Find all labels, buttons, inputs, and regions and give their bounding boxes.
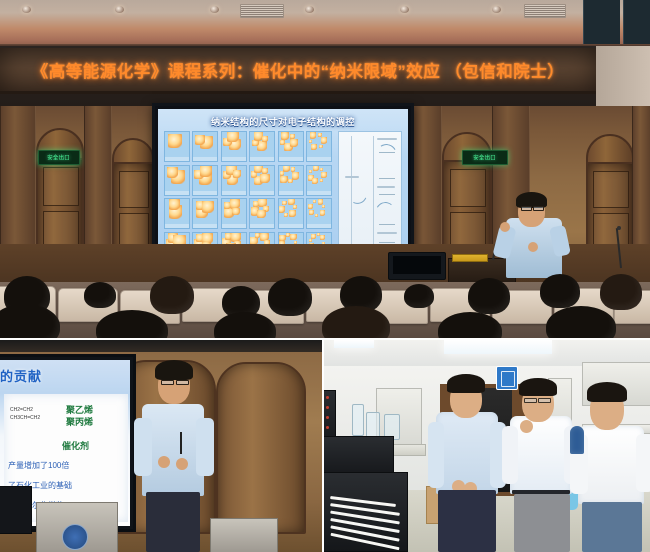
person-middle-arm: [502, 426, 518, 484]
audience-head: [468, 278, 510, 314]
lecturer-arm-right: [196, 418, 214, 476]
collage-divider-horizontal: [0, 338, 650, 340]
lecturer-hand-left: [158, 456, 170, 468]
ceiling-light: [334, 340, 374, 348]
exit-sign-right-label: 安全出口: [474, 153, 497, 161]
nanoparticle-cell: [306, 198, 332, 229]
audience-head: [404, 284, 434, 308]
audience-head: [540, 274, 580, 308]
exit-sign-left: 安全出口: [38, 150, 80, 165]
nanoparticle-cell: [249, 131, 275, 162]
slide-text-line: 聚丙烯: [66, 418, 93, 427]
nanoparticle-cell: [164, 165, 190, 196]
photo-collage: 《高等能源化学》课程系列：催化中的“纳米限域”效应 （包信和院士） 安全出口 安…: [0, 0, 650, 552]
person-middle-glasses: [538, 398, 551, 403]
ceiling-speaker-box: [583, 0, 620, 46]
safety-sign-icon: [496, 366, 518, 390]
air-vent: [524, 4, 566, 18]
side-table: [210, 518, 278, 552]
audience-head: [150, 276, 194, 314]
collage-divider-vertical: [322, 338, 324, 552]
audience-head: [84, 282, 116, 308]
lecturer-glasses: [176, 380, 189, 385]
slide-text-line: 产量增加了100倍: [8, 462, 69, 470]
side-display: [0, 486, 32, 534]
nanoparticle-cell: [278, 131, 304, 162]
nanoparticle-cell: [164, 131, 190, 162]
audience-head: [268, 278, 312, 316]
ceiling-downlight: [492, 6, 501, 13]
audience-head: [600, 274, 642, 310]
nanoparticle-cell: [192, 198, 218, 229]
slide-title: 纳米结构的尺寸对电子结构的调控: [158, 115, 408, 128]
ceiling-downlight: [400, 6, 409, 13]
person-right-hair: [587, 382, 627, 402]
ceiling-downlight: [305, 6, 314, 13]
person-middle-trousers: [514, 494, 570, 552]
person-middle-glasses: [524, 398, 537, 403]
wall-panel: [0, 106, 36, 256]
lecturer-hair: [155, 360, 193, 380]
slide-text-line: 催化剂: [62, 442, 89, 451]
ceiling-speaker-box: [623, 0, 650, 46]
lectern-nameplate: [452, 254, 488, 262]
wall-right-of-banner: [596, 46, 650, 106]
nanoparticle-cell: [164, 198, 190, 229]
panel-laboratory: [324, 340, 650, 552]
lecturer-hand-right: [176, 458, 188, 470]
slide-text-line: 聚乙烯: [66, 406, 93, 415]
speaker-glasses: [533, 206, 544, 211]
exit-sign-left-label: 安全出口: [48, 153, 71, 161]
air-vent: [240, 4, 284, 18]
ceiling-downlight: [22, 6, 31, 13]
nanoparticle-cell: [278, 165, 304, 196]
lecturer-arm-left: [134, 418, 152, 476]
slide-text-small: CH2=CH2: [10, 408, 33, 413]
ceiling-light: [444, 340, 552, 354]
panel-lecturer-closeup: 的贡献 CH2=CH2 CH3CH=CH2 聚乙烯 聚丙烯 催化剂 产量增加了1…: [0, 340, 322, 552]
person-right-arm: [636, 434, 650, 492]
glassware: [352, 404, 364, 436]
exit-sign-right: 安全出口: [462, 150, 508, 165]
nanoparticle-cell: [221, 165, 247, 196]
ceiling-downlight: [210, 6, 219, 13]
banner-title-text: 《高等能源化学》课程系列：催化中的“纳米限域”效应 （包信和院士）: [0, 49, 596, 91]
wall-panel: [410, 106, 442, 256]
nanoparticle-cell: [306, 131, 332, 162]
nanoparticle-cell: [249, 165, 275, 196]
person-left-trousers: [438, 490, 496, 552]
microphone-head: [617, 226, 621, 230]
nanoparticle-cell: [192, 131, 218, 162]
panel-lecture-hall: 《高等能源化学》课程系列：催化中的“纳米限域”效应 （包信和院士） 安全出口 安…: [0, 0, 650, 338]
slide-heading: 的贡献: [0, 366, 42, 385]
nanoparticle-cell: [249, 198, 275, 229]
wall-panel: [632, 106, 650, 256]
nanoparticle-cell: [221, 198, 247, 229]
clip-microphone: [180, 432, 182, 454]
nanoparticle-cell: [278, 198, 304, 229]
wall-panel: [84, 106, 112, 256]
speaker-hand-left: [500, 222, 510, 232]
nanoparticle-cell: [221, 131, 247, 162]
podium-emblem: [62, 524, 88, 550]
presenter-monitor: [388, 252, 446, 280]
person-left-hair: [447, 374, 485, 393]
person-right-jeans: [582, 502, 642, 552]
nanoparticle-cell: [192, 165, 218, 196]
speaker-hand-right: [528, 242, 538, 252]
room-door-2[interactable]: [216, 362, 306, 534]
ceiling-downlight: [115, 6, 124, 13]
person-right-strap: [570, 426, 584, 454]
person-middle-hair: [519, 378, 557, 396]
slide-text-small: CH3CH=CH2: [10, 416, 40, 421]
speaker-glasses: [521, 206, 532, 211]
person-middle-hand: [520, 420, 533, 433]
nanoparticle-cell: [306, 165, 332, 196]
lecturer-glasses: [161, 380, 174, 385]
person-left-arm: [428, 422, 444, 488]
lecturer-trousers: [146, 492, 200, 552]
